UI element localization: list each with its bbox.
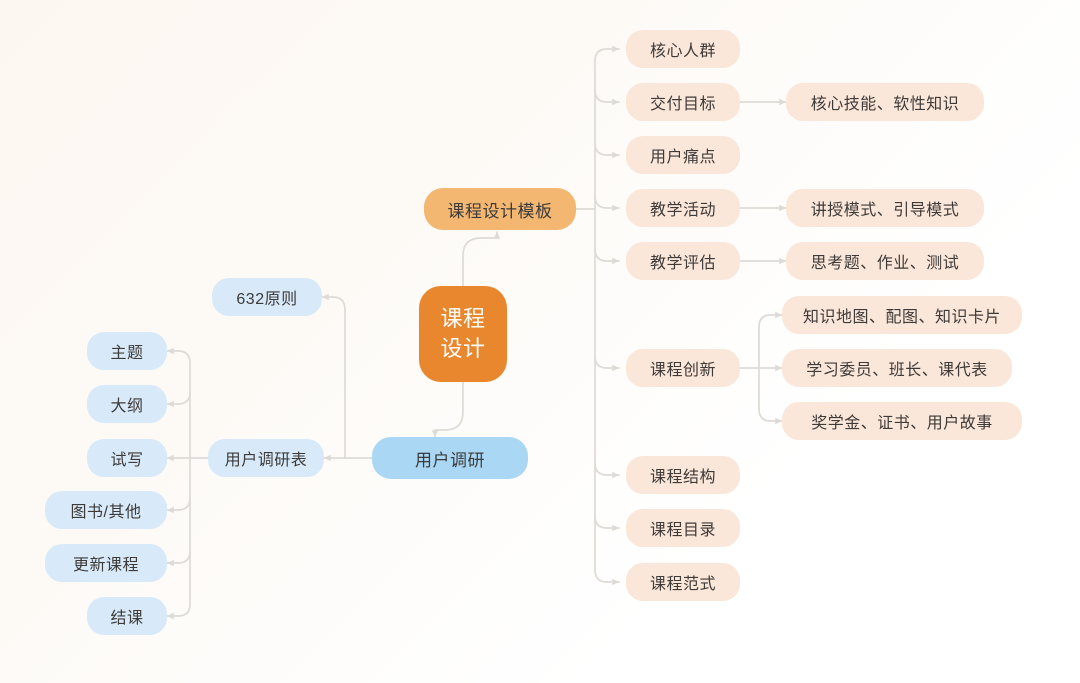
node-label: 课程目录 (650, 516, 716, 540)
node-label: 核心技能、软性知识 (811, 90, 960, 114)
link-trunk-innovation (595, 356, 619, 368)
link-table-books (167, 498, 190, 510)
node-label: 试写 (110, 446, 143, 470)
link-table-outline (167, 392, 190, 404)
node-label: 更新课程 (73, 551, 139, 575)
node-label: 结课 (110, 604, 143, 628)
node-label: 大纲 (110, 392, 143, 416)
node-knowledge-map-cards[interactable]: 知识地图、配图、知识卡片 (782, 296, 1022, 334)
link-root-to-survey (435, 382, 463, 437)
link-table-update (167, 551, 190, 563)
node-course-structure[interactable]: 课程结构 (626, 456, 740, 494)
node-delivery-goal[interactable]: 交付目标 (626, 83, 740, 121)
node-label: 讲授模式、引导模式 (811, 196, 960, 220)
node-scholarship-certificate-stories[interactable]: 奖学金、证书、用户故事 (782, 402, 1022, 440)
link-table-topic (167, 351, 190, 363)
root-label-line1: 课程 (440, 304, 485, 334)
branch-label: 用户调研 (415, 446, 485, 471)
root-node[interactable]: 课程 设计 (419, 286, 507, 382)
node-user-painpoint[interactable]: 用户痛点 (626, 136, 740, 174)
node-label: 课程结构 (650, 463, 716, 487)
link-trunk-core-audience (595, 49, 619, 61)
link-root-to-template (463, 232, 497, 286)
link-table-finish (167, 604, 190, 616)
mindmap-canvas: 课程 设计 课程设计模板 用户调研 核心人群 交付目标 用户痛点 教学活动 教学… (0, 0, 1080, 683)
node-label: 图书/其他 (71, 498, 142, 522)
node-core-skills-soft-knowledge[interactable]: 核心技能、软性知识 (786, 83, 984, 121)
node-outline[interactable]: 大纲 (87, 385, 167, 423)
node-label: 教学评估 (650, 249, 716, 273)
node-course-innovation[interactable]: 课程创新 (626, 349, 740, 387)
node-label: 课程创新 (650, 356, 716, 380)
node-632-principle[interactable]: 632原则 (212, 278, 322, 316)
node-label: 主题 (110, 339, 143, 363)
link-surveytrunk-632 (322, 297, 345, 310)
node-lecture-guide-modes[interactable]: 讲授模式、引导模式 (786, 189, 984, 227)
link-trunk-activity (595, 196, 619, 208)
node-trial-writing[interactable]: 试写 (87, 439, 167, 477)
link-trunk-structure (595, 463, 619, 475)
link-trunk-catalog (595, 516, 619, 528)
node-finish-class[interactable]: 结课 (87, 597, 167, 635)
link-innovation-knowledge-map (759, 315, 782, 327)
node-label: 奖学金、证书、用户故事 (811, 409, 993, 433)
node-books-others[interactable]: 图书/其他 (45, 491, 167, 529)
link-trunk-delivery (595, 90, 619, 102)
node-label: 用户调研表 (225, 446, 308, 470)
node-course-paradigm[interactable]: 课程范式 (626, 563, 740, 601)
node-label: 学习委员、班长、课代表 (806, 356, 988, 380)
node-topic[interactable]: 主题 (87, 332, 167, 370)
node-label: 用户痛点 (650, 143, 716, 167)
root-label-line2: 设计 (440, 334, 485, 364)
node-update-course[interactable]: 更新课程 (45, 544, 167, 582)
node-user-survey-form[interactable]: 用户调研表 (208, 439, 324, 477)
link-trunk-painpoint (595, 143, 619, 155)
node-label: 632原则 (236, 285, 297, 309)
node-core-audience[interactable]: 核心人群 (626, 30, 740, 68)
node-label: 教学活动 (650, 196, 716, 220)
node-teaching-activity[interactable]: 教学活动 (626, 189, 740, 227)
node-class-roles[interactable]: 学习委员、班长、课代表 (782, 349, 1012, 387)
node-teaching-assessment[interactable]: 教学评估 (626, 242, 740, 280)
branch-node-course-design-template[interactable]: 课程设计模板 (424, 188, 576, 230)
link-innovation-rewards (759, 409, 782, 421)
link-trunk-paradigm (595, 570, 619, 582)
node-label: 知识地图、配图、知识卡片 (803, 303, 1001, 327)
node-label: 课程范式 (650, 570, 716, 594)
node-course-catalog[interactable]: 课程目录 (626, 509, 740, 547)
node-assessment-items[interactable]: 思考题、作业、测试 (786, 242, 984, 280)
node-label: 核心人群 (650, 37, 716, 61)
node-label: 思考题、作业、测试 (811, 249, 960, 273)
branch-label: 课程设计模板 (448, 197, 553, 222)
node-label: 交付目标 (650, 90, 716, 114)
branch-node-user-survey[interactable]: 用户调研 (372, 437, 528, 479)
link-trunk-assessment (595, 249, 619, 261)
